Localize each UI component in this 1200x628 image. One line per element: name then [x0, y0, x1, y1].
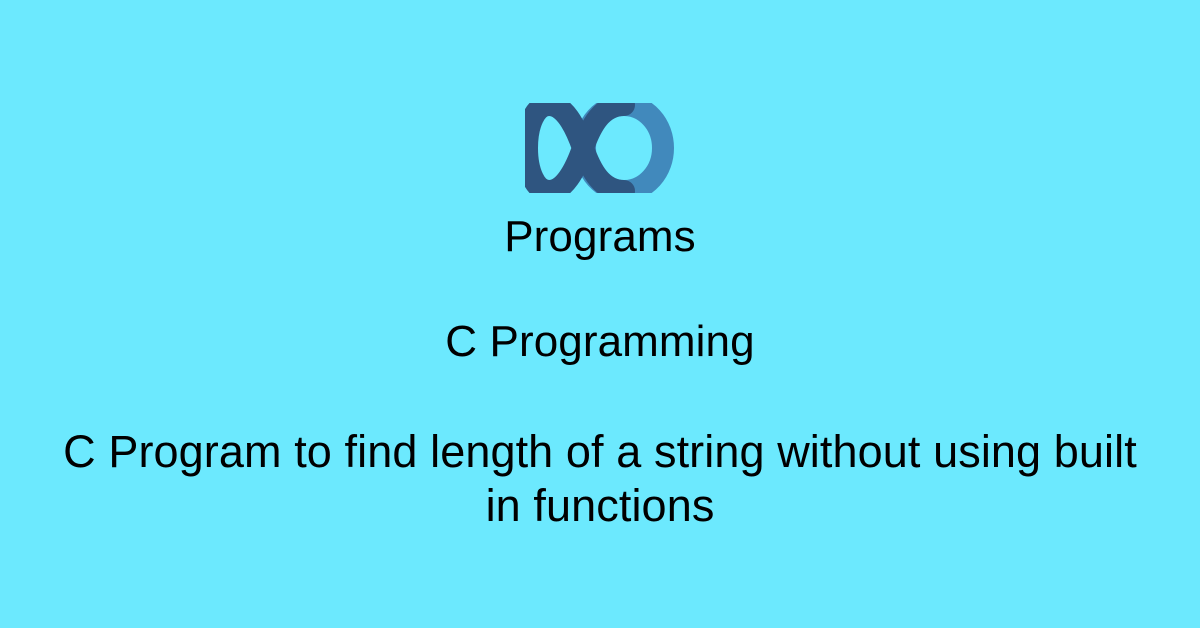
headline-line-1: C Program to find length of a string wit…	[63, 426, 1041, 477]
logo-left-loop	[527, 105, 624, 191]
logo-container	[0, 103, 1200, 195]
category-title: C Programming	[0, 317, 1200, 367]
headline: C Program to find length of a string wit…	[40, 425, 1160, 533]
infinity-loop-icon	[525, 103, 675, 193]
brand-title: Programs	[0, 212, 1200, 262]
share-card: Programs C Programming C Program to find…	[0, 0, 1200, 628]
